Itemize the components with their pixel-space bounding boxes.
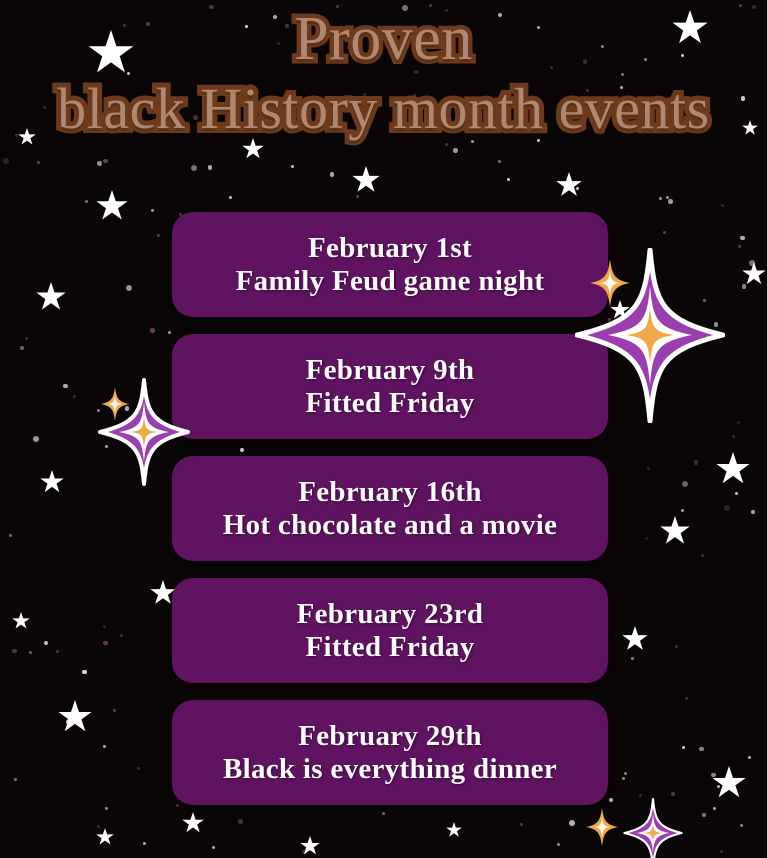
background-dot — [44, 641, 49, 646]
background-star-icon — [446, 822, 462, 838]
background-dot — [751, 510, 756, 515]
background-dot — [732, 435, 735, 438]
background-dot — [347, 46, 350, 49]
background-dot — [208, 165, 213, 170]
background-dot — [336, 5, 339, 8]
background-dot — [668, 199, 673, 204]
background-dot — [631, 657, 634, 660]
background-star-icon — [242, 138, 264, 160]
background-dot — [682, 746, 685, 749]
background-dot — [671, 792, 676, 797]
background-dot — [3, 158, 9, 164]
background-dot — [681, 54, 684, 57]
background-dot — [103, 159, 108, 164]
background-star-icon — [12, 612, 30, 630]
background-dot — [212, 846, 215, 849]
background-dot — [429, 4, 432, 7]
background-dot — [418, 115, 421, 118]
background-dot — [631, 111, 634, 114]
background-dot — [105, 807, 108, 810]
background-dot — [685, 697, 688, 700]
background-dot — [699, 747, 704, 752]
background-dot — [703, 299, 706, 302]
background-dot — [363, 93, 366, 96]
background-dot — [498, 116, 501, 119]
background-dot — [73, 395, 76, 398]
background-dot — [740, 236, 745, 241]
background-dot — [191, 165, 197, 171]
background-dot — [663, 231, 666, 234]
background-dot — [445, 9, 448, 12]
background-dot — [66, 719, 72, 725]
background-dot — [507, 178, 510, 181]
background-dot — [471, 140, 474, 143]
small-orange-sparkle-icon — [100, 386, 130, 422]
event-name: Family Feud game night — [236, 265, 545, 297]
background-dot — [675, 645, 678, 648]
background-dot — [711, 773, 716, 778]
background-dot — [717, 785, 720, 788]
background-dot — [586, 89, 589, 92]
background-dot — [82, 670, 87, 675]
event-name: Fitted Friday — [305, 631, 474, 663]
event-card[interactable]: February 1stFamily Feud game night — [172, 212, 608, 317]
background-dot — [659, 197, 662, 200]
background-dot — [641, 311, 647, 317]
background-dot — [105, 445, 108, 448]
background-star-icon — [352, 166, 380, 194]
background-dot — [621, 73, 624, 76]
background-dot — [720, 850, 723, 853]
background-dot — [97, 825, 100, 828]
background-dot — [103, 641, 108, 646]
background-dot — [229, 196, 232, 199]
background-dot — [356, 195, 359, 198]
background-star-icon — [36, 282, 66, 312]
event-card[interactable]: February 16thHot chocolate and a movie — [172, 456, 608, 561]
background-dot — [330, 172, 335, 177]
background-dot — [702, 813, 707, 818]
background-dot — [402, 5, 408, 11]
event-date: February 29th — [298, 720, 482, 752]
background-dot — [694, 460, 699, 465]
background-dot — [748, 756, 751, 759]
event-name: Hot chocolate and a movie — [223, 509, 558, 541]
background-dot — [537, 139, 540, 142]
background-dot — [120, 634, 123, 637]
background-dot — [97, 161, 102, 166]
background-dot — [127, 72, 130, 75]
background-dot — [14, 778, 17, 781]
background-dot — [126, 285, 132, 291]
background-star-icon — [660, 516, 690, 546]
background-dot — [713, 807, 716, 810]
background-dot — [445, 143, 448, 146]
background-dot — [143, 842, 146, 845]
background-dot — [151, 209, 154, 212]
background-dot — [123, 24, 126, 27]
background-dot — [301, 112, 306, 117]
background-dot — [277, 42, 280, 45]
background-dot — [498, 13, 503, 18]
background-dot — [741, 96, 746, 101]
background-dot — [414, 70, 419, 75]
background-dot — [735, 492, 738, 495]
background-dot — [752, 5, 757, 10]
background-star-icon — [18, 128, 36, 146]
background-star-icon — [128, 406, 160, 438]
background-dot — [453, 148, 458, 153]
background-dot — [113, 709, 116, 712]
background-dot — [15, 134, 18, 137]
background-star-icon — [300, 836, 320, 856]
event-name: Black is everything dinner — [223, 753, 557, 785]
background-dot — [308, 41, 313, 46]
background-star-icon — [556, 172, 582, 198]
event-date: February 9th — [306, 354, 475, 386]
background-dot — [103, 625, 106, 628]
background-dot — [160, 103, 165, 108]
background-dot — [150, 328, 155, 333]
background-dot — [25, 337, 28, 340]
background-dot — [721, 204, 724, 207]
background-dot — [146, 22, 151, 27]
background-dot — [666, 196, 669, 199]
background-dot — [550, 66, 553, 69]
background-dot — [701, 554, 704, 557]
background-dot — [749, 260, 755, 266]
background-dot — [63, 384, 68, 389]
background-dot — [245, 25, 248, 28]
background-star-icon — [712, 766, 746, 800]
event-date: February 1st — [308, 232, 472, 264]
background-dot — [645, 537, 648, 540]
background-dot — [621, 310, 624, 313]
background-dot — [647, 467, 650, 470]
background-dot — [103, 745, 106, 748]
background-dot — [97, 409, 100, 412]
background-star-icon — [672, 10, 708, 46]
background-star-icon — [742, 120, 758, 136]
background-dot — [576, 187, 579, 190]
background-dot — [739, 4, 742, 7]
title-line-primary: Proven — [0, 8, 767, 70]
background-star-icon — [96, 190, 128, 222]
poster-canvas: Proven black History month events Februa… — [0, 0, 767, 858]
background-dot — [291, 165, 294, 168]
background-dot — [520, 823, 523, 826]
background-dot — [20, 346, 25, 351]
background-dot — [682, 481, 688, 487]
background-dot — [740, 824, 743, 827]
background-dot — [193, 115, 198, 120]
event-list: February 1stFamily Feud game nightFebrua… — [172, 212, 608, 822]
background-dot — [85, 200, 88, 203]
background-dot — [583, 59, 588, 64]
background-dot — [302, 850, 307, 855]
background-dot — [622, 777, 625, 780]
background-star-icon — [716, 452, 750, 486]
background-dot — [285, 24, 290, 29]
background-dot — [125, 406, 130, 411]
background-dot — [43, 106, 46, 109]
background-dot — [209, 5, 214, 10]
event-date: February 23rd — [297, 598, 484, 630]
background-dot — [620, 86, 623, 89]
background-dot — [537, 26, 540, 29]
background-dot — [676, 109, 682, 115]
event-name: Fitted Friday — [305, 387, 474, 419]
background-star-icon — [40, 470, 64, 494]
background-dot — [33, 436, 39, 442]
background-dot — [137, 767, 140, 770]
background-star-icon — [622, 626, 648, 652]
background-star-icon — [88, 30, 134, 76]
background-dot — [128, 429, 134, 435]
background-star-icon — [58, 700, 92, 734]
background-dot — [609, 798, 614, 803]
event-date: February 16th — [298, 476, 482, 508]
background-dot — [742, 284, 747, 289]
event-card[interactable]: February 23rdFitted Friday — [172, 578, 608, 683]
background-dot — [12, 649, 17, 654]
background-dot — [681, 509, 684, 512]
background-dot — [29, 651, 32, 654]
background-dot — [413, 94, 416, 97]
background-dot — [738, 245, 741, 248]
poster-title: Proven black History month events — [0, 8, 767, 138]
background-dot — [498, 160, 501, 163]
event-card[interactable]: February 29thBlack is everything dinner — [172, 700, 608, 805]
background-dot — [724, 505, 730, 511]
background-star-icon — [96, 828, 114, 846]
background-dot — [157, 234, 160, 237]
background-dot — [37, 161, 40, 164]
background-star-icon — [742, 262, 766, 286]
background-star-icon — [610, 300, 630, 320]
background-dot — [105, 111, 110, 116]
title-line-secondary: black History month events — [0, 80, 767, 138]
background-dot — [168, 331, 171, 334]
event-card[interactable]: February 9thFitted Friday — [172, 334, 608, 439]
background-dot — [644, 303, 649, 308]
background-dot — [624, 772, 627, 775]
background-dot — [644, 58, 647, 61]
background-dot — [639, 794, 642, 797]
four-point-sparkle-icon — [598, 798, 708, 858]
background-dot — [714, 322, 719, 327]
background-dot — [9, 534, 12, 537]
background-dot — [273, 15, 278, 20]
background-dot — [737, 421, 740, 424]
background-dot — [56, 650, 59, 653]
background-dot — [601, 45, 604, 48]
background-dot — [557, 843, 560, 846]
